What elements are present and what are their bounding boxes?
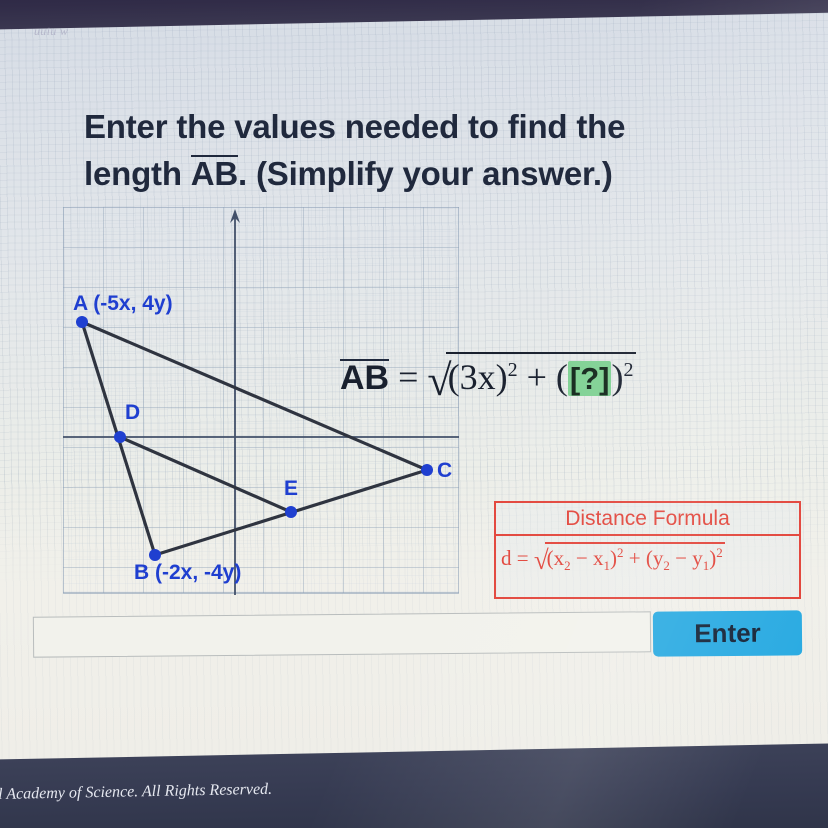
ab-formula: AB = √ (3x)2 + ([?])2 [340, 352, 636, 406]
formula-plus: + [527, 357, 547, 397]
question-line-1: Enter the values needed to find the [84, 108, 625, 145]
label-point-d: D [125, 401, 140, 424]
df-exp2: 2 [716, 545, 723, 560]
df-equals: = [517, 546, 529, 570]
formula-term1: 3x [460, 357, 496, 397]
label-point-a: A (-5x, 4y) [73, 292, 173, 315]
df-y2: y [653, 546, 664, 570]
point-a [76, 316, 88, 328]
enter-button[interactable]: Enter [653, 610, 802, 656]
formula-term2-open: ( [556, 357, 568, 397]
answer-blank-placeholder[interactable]: [?] [568, 361, 612, 396]
df-exp1: 2 [617, 545, 624, 560]
label-point-e: E [284, 477, 298, 500]
distance-formula-expression: d = √ (x2 − x1)2 + (y2 − y1)2 [496, 536, 799, 576]
df-open1: ( [547, 546, 554, 570]
formula-equals: = [398, 357, 418, 397]
df-minus1: − [576, 546, 588, 570]
df-d: d [501, 546, 512, 570]
formula-term1-open: ( [448, 357, 460, 397]
df-minus2: − [675, 546, 687, 570]
df-close1: ) [610, 546, 617, 570]
label-point-c: C (7x, -1y) [437, 459, 459, 482]
top-bar-cut-text: uuiu w [34, 24, 68, 39]
point-c [421, 464, 433, 476]
df-open2: ( [646, 546, 653, 570]
distance-formula-box: Distance Formula d = √ (x2 − x1)2 + (y2 … [494, 501, 801, 599]
df-x1: x [593, 546, 604, 570]
question-line-2-prefix: length [84, 155, 191, 192]
label-point-b: B (-2x, -4y) [134, 561, 241, 584]
df-x2-sub: 2 [564, 558, 571, 573]
point-b [149, 549, 161, 561]
formula-term2-close: ) [611, 357, 623, 397]
df-y1: y [692, 546, 703, 570]
answer-input[interactable] [33, 611, 651, 657]
point-d [114, 431, 126, 443]
segment-ab-label: AB [191, 155, 238, 190]
distance-formula-title: Distance Formula [496, 503, 799, 536]
question-line-2-suffix: . (Simplify your answer.) [238, 155, 613, 192]
formula-lhs: AB [340, 359, 389, 395]
page-title: Enter the values needed to find the leng… [84, 104, 804, 198]
formula-exp2: 2 [623, 359, 633, 381]
df-x2: x [554, 546, 565, 570]
screenshot-page: uuiu w Enter the values needed to find t… [0, 0, 828, 828]
df-y2-sub: 2 [663, 558, 670, 573]
point-e [285, 506, 297, 518]
df-plus: + [629, 546, 641, 570]
formula-term1-close: ) [496, 357, 508, 397]
formula-exp1: 2 [508, 359, 518, 381]
